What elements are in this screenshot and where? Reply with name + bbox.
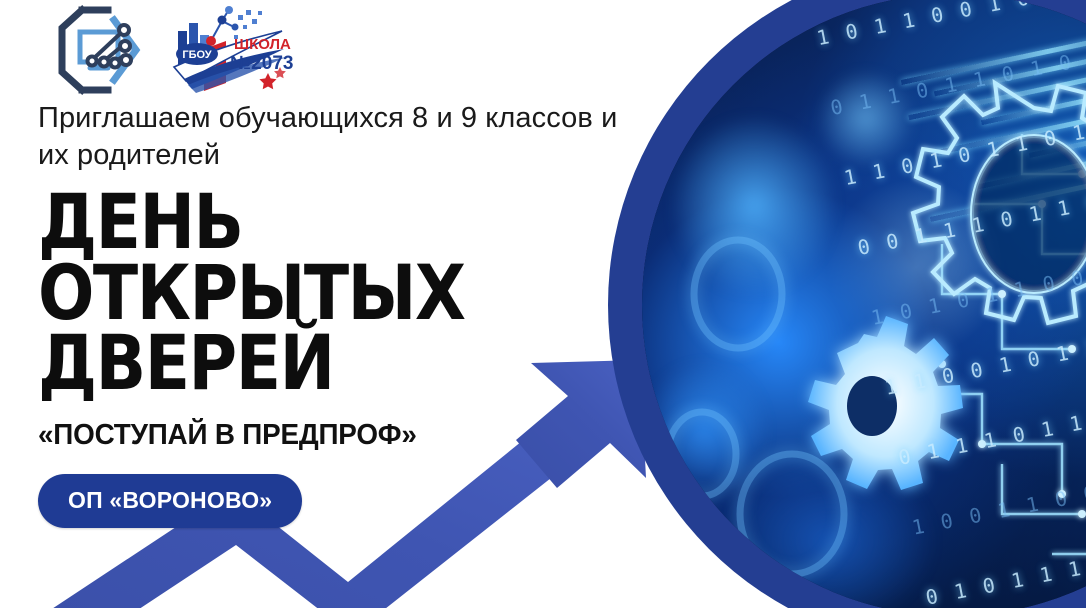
circuit-traces-and-gears <box>642 0 1086 608</box>
school-2073-logo-icon: ГБОУ ШКОЛА №2073 <box>164 5 294 95</box>
open-day-poster: 1 0 1 1 0 0 1 0 1 1 0 1 1 0 1 1 0 1 0 0 … <box>0 0 1086 608</box>
page-title: ДЕНЬ ОТКРЫТЫХ ДВЕРЕЙ <box>38 187 659 399</box>
invitation-line-2: их родителей <box>38 139 220 171</box>
subtitle: «ПОСТУПАЙ В ПРЕДПРОФ» <box>38 419 652 452</box>
tech-background-gradient <box>642 0 1086 608</box>
logo-row: ГБОУ ШКОЛА №2073 <box>52 4 294 96</box>
predprof-hexagon-icon <box>52 4 150 96</box>
school-logo-abbrev: ГБОУ <box>182 49 211 61</box>
tech-bokeh-blobs <box>642 0 1086 608</box>
school-logo-line1: ШКОЛА <box>234 36 291 53</box>
technology-photo: 1 0 1 1 0 0 1 0 1 1 0 1 1 0 1 1 0 1 0 0 … <box>642 0 1086 608</box>
invitation-line-1: Приглашаем обучающихся 8 и 9 классов и <box>38 102 617 134</box>
campus-badge-button[interactable]: ОП «ВОРОНОВО» <box>38 474 302 528</box>
school-logo-line2: №2073 <box>230 53 293 74</box>
poster-copy: Приглашаем обучающихся 8 и 9 классов и и… <box>38 100 678 528</box>
binary-digits: 1 0 1 1 0 0 1 0 1 1 0 1 1 0 1 1 0 1 0 0 … <box>806 0 1086 608</box>
data-strips <box>900 8 1086 243</box>
headline-line-2: ДВЕРЕЙ <box>38 318 334 407</box>
invitation-text: Приглашаем обучающихся 8 и 9 классов и и… <box>38 100 658 173</box>
headline-line-1: ДЕНЬ ОТКРЫТЫХ <box>38 177 465 337</box>
